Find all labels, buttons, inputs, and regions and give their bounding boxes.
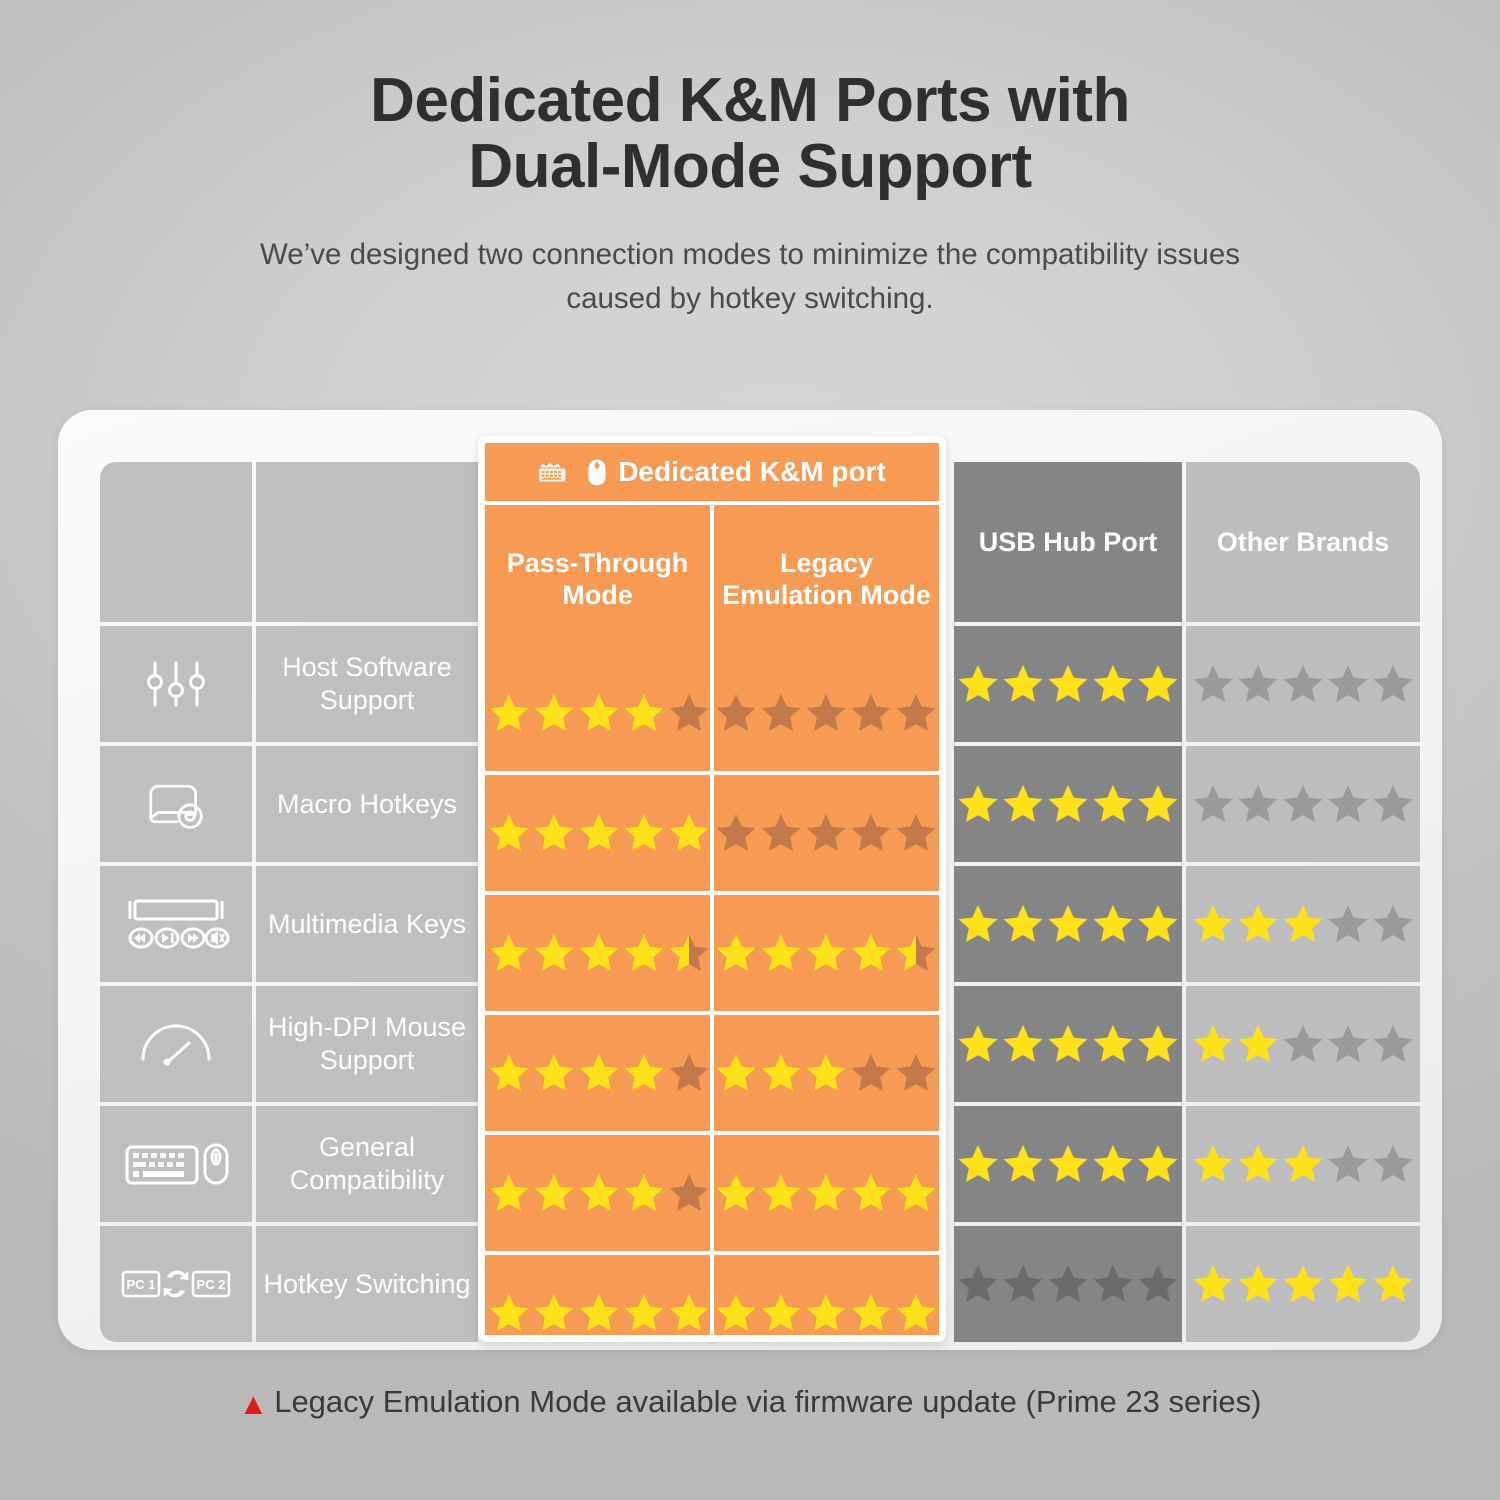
rating-cell-usb-hub-port (954, 1226, 1182, 1342)
stars-pass-through (488, 1172, 710, 1214)
star-icon (1237, 663, 1279, 705)
stars-usb-hub-port (957, 1143, 1179, 1185)
star-icon (850, 812, 892, 854)
stars-usb-hub-port (957, 783, 1179, 825)
footnote: ▲Legacy Emulation Mode available via fir… (0, 1384, 1500, 1422)
sliders-icon (133, 655, 219, 713)
star-icon (850, 1292, 892, 1334)
star-icon (533, 932, 575, 974)
star-icon (1002, 903, 1044, 945)
star-icon (668, 692, 710, 734)
star-icon (488, 812, 530, 854)
star-icon (760, 932, 802, 974)
star-icon (578, 932, 620, 974)
star-icon (895, 692, 937, 734)
feature-name: General Compatibility (256, 1131, 478, 1197)
stars-usb-hub-port (957, 1023, 1179, 1065)
row-feature-label: Host Software Support (256, 626, 478, 742)
column-header-usb-hub-port: USB Hub Port (954, 462, 1182, 622)
rating-cell-usb-hub-port (954, 866, 1182, 982)
star-icon (1137, 903, 1179, 945)
rating-cell-usb-hub-port (954, 626, 1182, 742)
macro-key-gear-icon (133, 775, 219, 833)
star-icon (715, 812, 757, 854)
star-icon (1237, 1263, 1279, 1305)
row-feature-label: High-DPI Mouse Support (256, 986, 478, 1102)
star-icon (760, 692, 802, 734)
star-icon (957, 1263, 999, 1305)
stars-other-brands (1192, 1143, 1414, 1185)
warning-triangle-icon: ▲ (239, 1388, 269, 1421)
star-icon (578, 692, 620, 734)
star-icon (760, 1172, 802, 1214)
star-icon (668, 812, 710, 854)
stars-legacy-emulation (715, 1052, 937, 1094)
stars-usb-hub-port (957, 1263, 1179, 1305)
star-icon (488, 1292, 530, 1334)
star-icon (1237, 1143, 1279, 1185)
star-icon (1327, 783, 1369, 825)
star-icon (1237, 903, 1279, 945)
stars-pass-through (488, 1052, 710, 1094)
star-icon (1002, 663, 1044, 705)
star-icon (668, 1292, 710, 1334)
star-icon (1192, 1023, 1234, 1065)
star-icon (488, 692, 530, 734)
rating-cell-other-brands (1186, 1226, 1420, 1342)
star-icon (1192, 1263, 1234, 1305)
footnote-text: Legacy Emulation Mode available via firm… (274, 1384, 1261, 1419)
page-subtitle-line-1: We’ve designed two connection modes to m… (0, 233, 1500, 277)
stars-other-brands (1192, 1263, 1414, 1305)
star-icon (1002, 1023, 1044, 1065)
star-icon (805, 812, 847, 854)
star-icon (1282, 663, 1324, 705)
star-icon (1137, 1023, 1179, 1065)
svg-text:PC 1: PC 1 (127, 1277, 156, 1292)
stars-usb-hub-port (957, 663, 1179, 705)
rating-cell-other-brands (1186, 866, 1420, 982)
keyboard-mouse-icon (121, 1133, 231, 1195)
column-header-other-brands-label: Other Brands (1217, 526, 1390, 558)
star-icon (623, 1292, 665, 1334)
stars-legacy-emulation (715, 812, 937, 854)
star-icon (1327, 903, 1369, 945)
star-icon (895, 1292, 937, 1334)
rating-cell-usb-hub-port (954, 986, 1182, 1102)
star-icon (895, 1172, 937, 1214)
star-icon (623, 1172, 665, 1214)
star-icon (850, 1052, 892, 1094)
stars-pass-through (488, 1292, 710, 1334)
star-icon (578, 1292, 620, 1334)
star-icon (850, 932, 892, 974)
star-icon (1372, 903, 1414, 945)
rating-cell-other-brands (1186, 626, 1420, 742)
rating-cell-pass-through-stars (485, 1013, 712, 1133)
feature-name: Hotkey Switching (263, 1268, 470, 1301)
star-icon-half (895, 932, 937, 974)
star-icon (623, 1052, 665, 1094)
rating-cell-legacy-stars (712, 893, 939, 1013)
star-icon (1192, 663, 1234, 705)
star-icon (533, 1172, 575, 1214)
star-icon (1192, 1143, 1234, 1185)
rating-cell-pass-through-stars (485, 653, 712, 773)
star-icon (1282, 783, 1324, 825)
star-icon (957, 663, 999, 705)
star-icon (715, 1052, 757, 1094)
star-icon (1192, 783, 1234, 825)
star-icon (1047, 1023, 1089, 1065)
star-icon (488, 932, 530, 974)
star-icon (1137, 783, 1179, 825)
dedicated-km-port-header: Dedicated K&M port (485, 443, 939, 505)
highlight-rating-row (485, 1013, 939, 1133)
page-title-line-2: Dual-Mode Support (0, 134, 1500, 200)
rating-cell-pass-through-stars (485, 893, 712, 1013)
rating-cell-pass-through-stars (485, 1133, 712, 1253)
keyboard-icon (538, 458, 576, 486)
star-icon (1327, 1143, 1369, 1185)
star-icon (623, 692, 665, 734)
rating-cell-usb-hub-port (954, 1106, 1182, 1222)
star-icon (715, 1292, 757, 1334)
dpi-gauge-icon (133, 1015, 219, 1073)
star-icon (805, 1172, 847, 1214)
column-header-pass-through: Pass-Through Mode (485, 505, 710, 653)
star-icon-half (668, 932, 710, 974)
star-icon (957, 1023, 999, 1065)
column-header-other-brands: Other Brands (1186, 462, 1420, 622)
mouse-icon (587, 458, 607, 487)
star-icon (1372, 663, 1414, 705)
highlight-rating-row (485, 1133, 939, 1253)
page-title: Dedicated K&M Ports with Dual-Mode Suppo… (0, 68, 1500, 201)
star-icon (850, 692, 892, 734)
feature-name: Multimedia Keys (268, 908, 466, 941)
star-icon (760, 1052, 802, 1094)
star-icon (760, 812, 802, 854)
star-icon (1092, 1023, 1134, 1065)
star-icon (1047, 663, 1089, 705)
star-icon (578, 1172, 620, 1214)
row-icon-keyboard-mouse-icon (100, 1106, 252, 1222)
star-icon (533, 812, 575, 854)
row-icon-pc-switch-icon: PC 1PC 2 (100, 1226, 252, 1342)
star-icon (1237, 783, 1279, 825)
svg-text:PC 2: PC 2 (197, 1277, 226, 1292)
rating-cell-legacy-stars (712, 1253, 939, 1373)
star-icon (1047, 1143, 1089, 1185)
stars-legacy-emulation (715, 932, 937, 974)
star-icon (1092, 903, 1134, 945)
stars-pass-through (488, 932, 710, 974)
stars-pass-through (488, 692, 710, 734)
feature-name: High-DPI Mouse Support (256, 1011, 478, 1077)
star-icon (715, 932, 757, 974)
star-icon (715, 1172, 757, 1214)
highlight-rating-row (485, 773, 939, 893)
star-icon (1372, 1263, 1414, 1305)
star-icon (1327, 1023, 1369, 1065)
row-feature-label: Hotkey Switching (256, 1226, 478, 1342)
highlight-rating-row (485, 893, 939, 1013)
star-icon (578, 1052, 620, 1094)
star-icon (895, 1052, 937, 1094)
row-icon-macro-key-gear-icon (100, 746, 252, 862)
star-icon (1002, 1263, 1044, 1305)
star-icon (1047, 903, 1089, 945)
star-icon (1282, 903, 1324, 945)
dedicated-km-subheaders: Pass-Through Mode Legacy Emulation Mode (485, 505, 939, 653)
page-subtitle: We’ve designed two connection modes to m… (0, 233, 1500, 322)
star-icon (805, 1292, 847, 1334)
rating-cell-legacy-stars (712, 1133, 939, 1253)
stars-other-brands (1192, 1023, 1414, 1065)
table-header-spacer (256, 462, 478, 622)
pc-switch-icon: PC 1PC 2 (121, 1253, 231, 1315)
feature-name: Host Software Support (256, 651, 478, 717)
star-icon (805, 1052, 847, 1094)
rating-cell-pass-through-stars (485, 773, 712, 893)
star-icon (1137, 1143, 1179, 1185)
star-icon (1372, 1143, 1414, 1185)
star-icon (957, 903, 999, 945)
rating-cell-other-brands (1186, 986, 1420, 1102)
star-icon (1047, 1263, 1089, 1305)
page-header: Dedicated K&M Ports with Dual-Mode Suppo… (0, 0, 1500, 321)
table-corner-cell (100, 462, 252, 622)
dedicated-km-port-label: Dedicated K&M port (618, 456, 886, 488)
stars-legacy-emulation (715, 1292, 937, 1334)
highlight-rating-row (485, 653, 939, 773)
rating-cell-legacy-stars (712, 653, 939, 773)
stars-usb-hub-port (957, 903, 1179, 945)
row-icon-sliders-icon (100, 626, 252, 742)
page-subtitle-line-2: caused by hotkey switching. (0, 277, 1500, 321)
stars-pass-through (488, 812, 710, 854)
column-header-usb-hub-port-label: USB Hub Port (979, 526, 1158, 558)
star-icon (850, 1172, 892, 1214)
highlight-star-ratings (485, 653, 939, 1373)
stars-other-brands (1192, 663, 1414, 705)
stars-legacy-emulation (715, 692, 937, 734)
star-icon (1002, 1143, 1044, 1185)
star-icon (1047, 783, 1089, 825)
stars-legacy-emulation (715, 1172, 937, 1214)
star-icon (1237, 1023, 1279, 1065)
page-title-line-1: Dedicated K&M Ports with (0, 68, 1500, 134)
rating-cell-usb-hub-port (954, 746, 1182, 862)
star-icon (1282, 1143, 1324, 1185)
star-icon (1372, 1023, 1414, 1065)
star-icon (760, 1292, 802, 1334)
star-icon (1372, 783, 1414, 825)
star-icon (1092, 1263, 1134, 1305)
stars-other-brands (1192, 903, 1414, 945)
star-icon (623, 932, 665, 974)
star-icon (805, 692, 847, 734)
row-icon-dpi-gauge-icon (100, 986, 252, 1102)
rating-cell-legacy-stars (712, 1013, 939, 1133)
star-icon (533, 1292, 575, 1334)
row-feature-label: Macro Hotkeys (256, 746, 478, 862)
star-icon (578, 812, 620, 854)
highlight-rating-row (485, 1253, 939, 1373)
star-icon (1092, 783, 1134, 825)
star-icon (668, 1172, 710, 1214)
star-icon (1092, 1143, 1134, 1185)
star-icon (1327, 1263, 1369, 1305)
rating-cell-other-brands (1186, 1106, 1420, 1222)
star-icon (1002, 783, 1044, 825)
star-icon (488, 1172, 530, 1214)
star-icon (623, 812, 665, 854)
stars-other-brands (1192, 783, 1414, 825)
star-icon (533, 692, 575, 734)
star-icon (1137, 1263, 1179, 1305)
star-icon (1282, 1263, 1324, 1305)
star-icon (1092, 663, 1134, 705)
column-header-legacy-emulation: Legacy Emulation Mode (714, 505, 939, 653)
star-icon (715, 692, 757, 734)
star-icon (1137, 663, 1179, 705)
row-feature-label: General Compatibility (256, 1106, 478, 1222)
row-feature-label: Multimedia Keys (256, 866, 478, 982)
star-icon (957, 783, 999, 825)
star-icon (805, 932, 847, 974)
feature-name: Macro Hotkeys (277, 788, 457, 821)
multimedia-keys-icon (121, 893, 231, 955)
star-icon (1327, 663, 1369, 705)
star-icon (1282, 1023, 1324, 1065)
star-icon (488, 1052, 530, 1094)
star-icon (1192, 903, 1234, 945)
rating-cell-legacy-stars (712, 773, 939, 893)
star-icon (533, 1052, 575, 1094)
row-icon-multimedia-keys-icon (100, 866, 252, 982)
star-icon (957, 1143, 999, 1185)
dedicated-km-port-highlight: Dedicated K&M port Pass-Through Mode Leg… (478, 436, 946, 1342)
rating-cell-pass-through-stars (485, 1253, 712, 1373)
star-icon (668, 1052, 710, 1094)
rating-cell-other-brands (1186, 746, 1420, 862)
star-icon (895, 812, 937, 854)
